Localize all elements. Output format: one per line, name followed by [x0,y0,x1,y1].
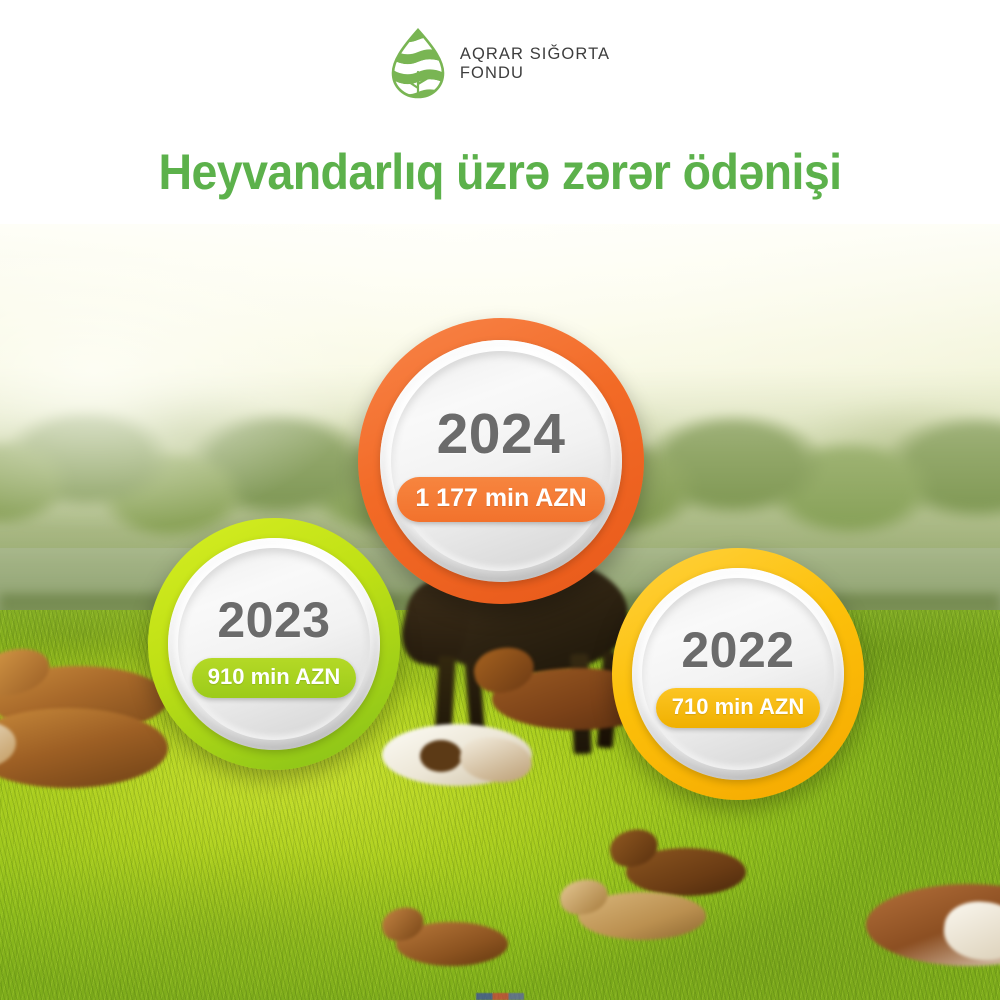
amount-badge-2024: 1 177 min AZN [397,477,604,522]
page-title: Heyvandarlıq üzrə zərər ödənişi [35,143,965,201]
year-label-2022: 2022 [681,625,794,675]
amount-badge-2023: 910 min AZN [192,658,356,698]
brand-logo[interactable]: AQRAR SIĞORTA FONDU [0,28,1000,100]
stat-circle-2024[interactable]: 2024 1 177 min AZN [358,318,644,604]
stat-circle-2022[interactable]: 2022 710 min AZN [612,548,864,800]
brand-name-line-1: AQRAR SIĞORTA [460,45,610,64]
leaf-droplet-logo-icon [390,28,446,100]
bottom-edge-marker [476,993,524,1000]
cow-resting-left-lower [0,688,184,792]
circle-inner-face-2022: 2022 710 min AZN [642,578,834,770]
calf-bottom-center [560,876,710,942]
cow-white-spotted-center [372,710,548,792]
circle-inner-face-2024: 2024 1 177 min AZN [391,351,611,571]
header-band: AQRAR SIĞORTA FONDU Heyvandarlıq üzrə zə… [0,0,1000,224]
amount-badge-2022: 710 min AZN [656,688,820,728]
brand-name-line-2: FONDU [460,64,610,83]
infographic-poster: AQRAR SIĞORTA FONDU Heyvandarlıq üzrə zə… [0,0,1000,1000]
circle-inner-face-2023: 2023 910 min AZN [178,548,370,740]
brand-logo-text: AQRAR SIĞORTA FONDU [460,45,610,84]
calf-bottom-left [382,908,512,968]
year-label-2023: 2023 [217,595,330,645]
stat-circle-2023[interactable]: 2023 910 min AZN [148,518,400,770]
cow-resting-right [860,868,1000,978]
year-label-2024: 2024 [437,406,566,463]
